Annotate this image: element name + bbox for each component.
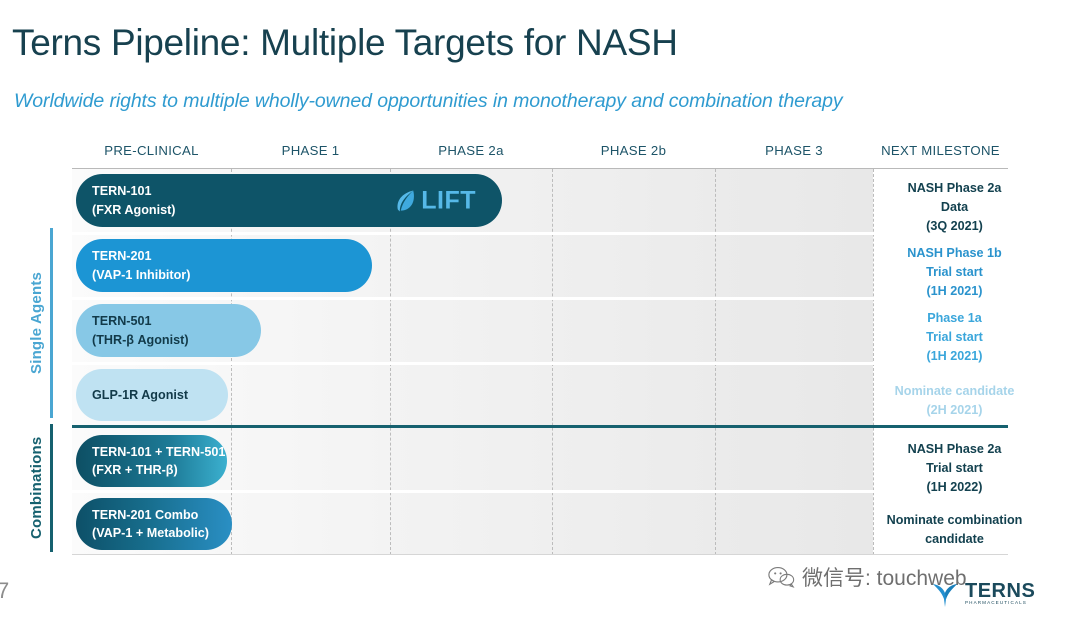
pipeline-bar-program: TERN-501 bbox=[92, 312, 261, 330]
milestone-line: Phase 1a bbox=[873, 309, 1036, 328]
combinations-bracket bbox=[50, 424, 53, 552]
pipeline-bar-glp-1r-agonist[interactable]: GLP-1R Agonist bbox=[76, 369, 228, 421]
lift-logo: LIFT bbox=[395, 188, 476, 213]
slide-root: Terns Pipeline: Multiple Targets for NAS… bbox=[0, 0, 1080, 625]
terns-logo-name: TERNS bbox=[965, 581, 1035, 601]
milestone-line: Trial start bbox=[873, 459, 1036, 478]
pipeline-bar-program: GLP-1R Agonist bbox=[92, 386, 228, 404]
section-divider bbox=[72, 425, 1008, 428]
page-title: Terns Pipeline: Multiple Targets for NAS… bbox=[12, 22, 678, 64]
milestone-line: (3Q 2021) bbox=[873, 217, 1036, 236]
milestone-line: (1H 2022) bbox=[873, 478, 1036, 497]
single-agents-bracket bbox=[50, 228, 53, 418]
pipeline-bar-tern-101[interactable]: TERN-101 (FXR Agonist) LIFT bbox=[76, 174, 502, 227]
pipeline-bar-program: TERN-201 Combo bbox=[92, 506, 232, 524]
milestone-tern-101-tern-501: NASH Phase 2a Trial start (1H 2022) bbox=[873, 440, 1036, 497]
milestone-line: Nominate combination bbox=[873, 511, 1036, 530]
milestone-glp-1r-agonist: Nominate candidate (2H 2021) bbox=[873, 382, 1036, 420]
lift-logo-text: LIFT bbox=[421, 188, 476, 213]
page-subtitle: Worldwide rights to multiple wholly-owne… bbox=[14, 90, 842, 113]
pipeline-bar-program: TERN-101 + TERN-501 bbox=[92, 443, 227, 461]
column-header-row: PRE-CLINICAL PHASE 1 PHASE 2a PHASE 2b P… bbox=[72, 143, 1008, 167]
terns-bird-icon bbox=[930, 578, 960, 608]
pipeline-bar-target: (VAP-1 + Metabolic) bbox=[92, 524, 232, 542]
pipeline-bar-tern-201-combo[interactable]: TERN-201 Combo (VAP-1 + Metabolic) bbox=[76, 498, 232, 550]
page-number: 7 bbox=[0, 578, 9, 604]
milestone-line: NASH Phase 2a bbox=[873, 179, 1036, 198]
milestone-line: Trial start bbox=[873, 328, 1036, 347]
wechat-icon bbox=[768, 566, 795, 588]
terns-logo-text: TERNS PHARMACEUTICALS bbox=[965, 581, 1035, 606]
column-header-phase-1: PHASE 1 bbox=[231, 143, 390, 158]
milestone-tern-501: Phase 1a Trial start (1H 2021) bbox=[873, 309, 1036, 366]
milestone-line: (1H 2021) bbox=[873, 347, 1036, 366]
milestone-line: (2H 2021) bbox=[873, 401, 1036, 420]
pipeline-bar-program: TERN-201 bbox=[92, 247, 372, 265]
row-divider-4 bbox=[72, 490, 1008, 493]
pipeline-bar-tern-501[interactable]: TERN-501 (THR-β Agonist) bbox=[76, 304, 261, 357]
column-header-phase-2a: PHASE 2a bbox=[390, 143, 552, 158]
leaf-icon bbox=[395, 188, 418, 213]
terns-logo: TERNS PHARMACEUTICALS bbox=[930, 578, 1035, 608]
row-divider-2 bbox=[72, 297, 1008, 300]
pipeline-bar-target: (VAP-1 Inhibitor) bbox=[92, 266, 372, 284]
section-label-combinations: Combinations bbox=[28, 424, 45, 552]
row-divider-3 bbox=[72, 362, 1008, 365]
terns-logo-sub: PHARMACEUTICALS bbox=[965, 601, 1035, 606]
milestone-line: (1H 2021) bbox=[873, 282, 1036, 301]
column-header-phase-2b: PHASE 2b bbox=[552, 143, 715, 158]
column-header-next-milestone: NEXT MILESTONE bbox=[873, 143, 1008, 158]
milestone-tern-101: NASH Phase 2a Data (3Q 2021) bbox=[873, 179, 1036, 236]
pipeline-grid: TERN-101 (FXR Agonist) LIFT NASH Phase 2… bbox=[72, 169, 1008, 555]
pipeline-chart: PRE-CLINICAL PHASE 1 PHASE 2a PHASE 2b P… bbox=[72, 143, 1008, 555]
milestone-line: NASH Phase 1b bbox=[873, 244, 1036, 263]
milestone-line: Trial start bbox=[873, 263, 1036, 282]
column-header-pre-clinical: PRE-CLINICAL bbox=[72, 143, 231, 158]
grid-bottom-rule bbox=[72, 554, 1008, 555]
section-label-single-agents: Single Agents bbox=[28, 228, 45, 418]
milestone-line: Nominate candidate bbox=[873, 382, 1036, 401]
milestone-tern-201-combo: Nominate combination candidate bbox=[873, 511, 1036, 549]
milestone-line: NASH Phase 2a bbox=[873, 440, 1036, 459]
pipeline-bar-tern-101-tern-501[interactable]: TERN-101 + TERN-501 (FXR + THR-β) bbox=[76, 435, 227, 487]
milestone-line: Data bbox=[873, 198, 1036, 217]
row-divider-1 bbox=[72, 232, 1008, 235]
column-header-phase-3: PHASE 3 bbox=[715, 143, 873, 158]
pipeline-bar-tern-201[interactable]: TERN-201 (VAP-1 Inhibitor) bbox=[76, 239, 372, 292]
pipeline-bar-target: (THR-β Agonist) bbox=[92, 331, 261, 349]
milestone-tern-201: NASH Phase 1b Trial start (1H 2021) bbox=[873, 244, 1036, 301]
milestone-line: candidate bbox=[873, 530, 1036, 549]
pipeline-bar-target: (FXR + THR-β) bbox=[92, 461, 227, 479]
